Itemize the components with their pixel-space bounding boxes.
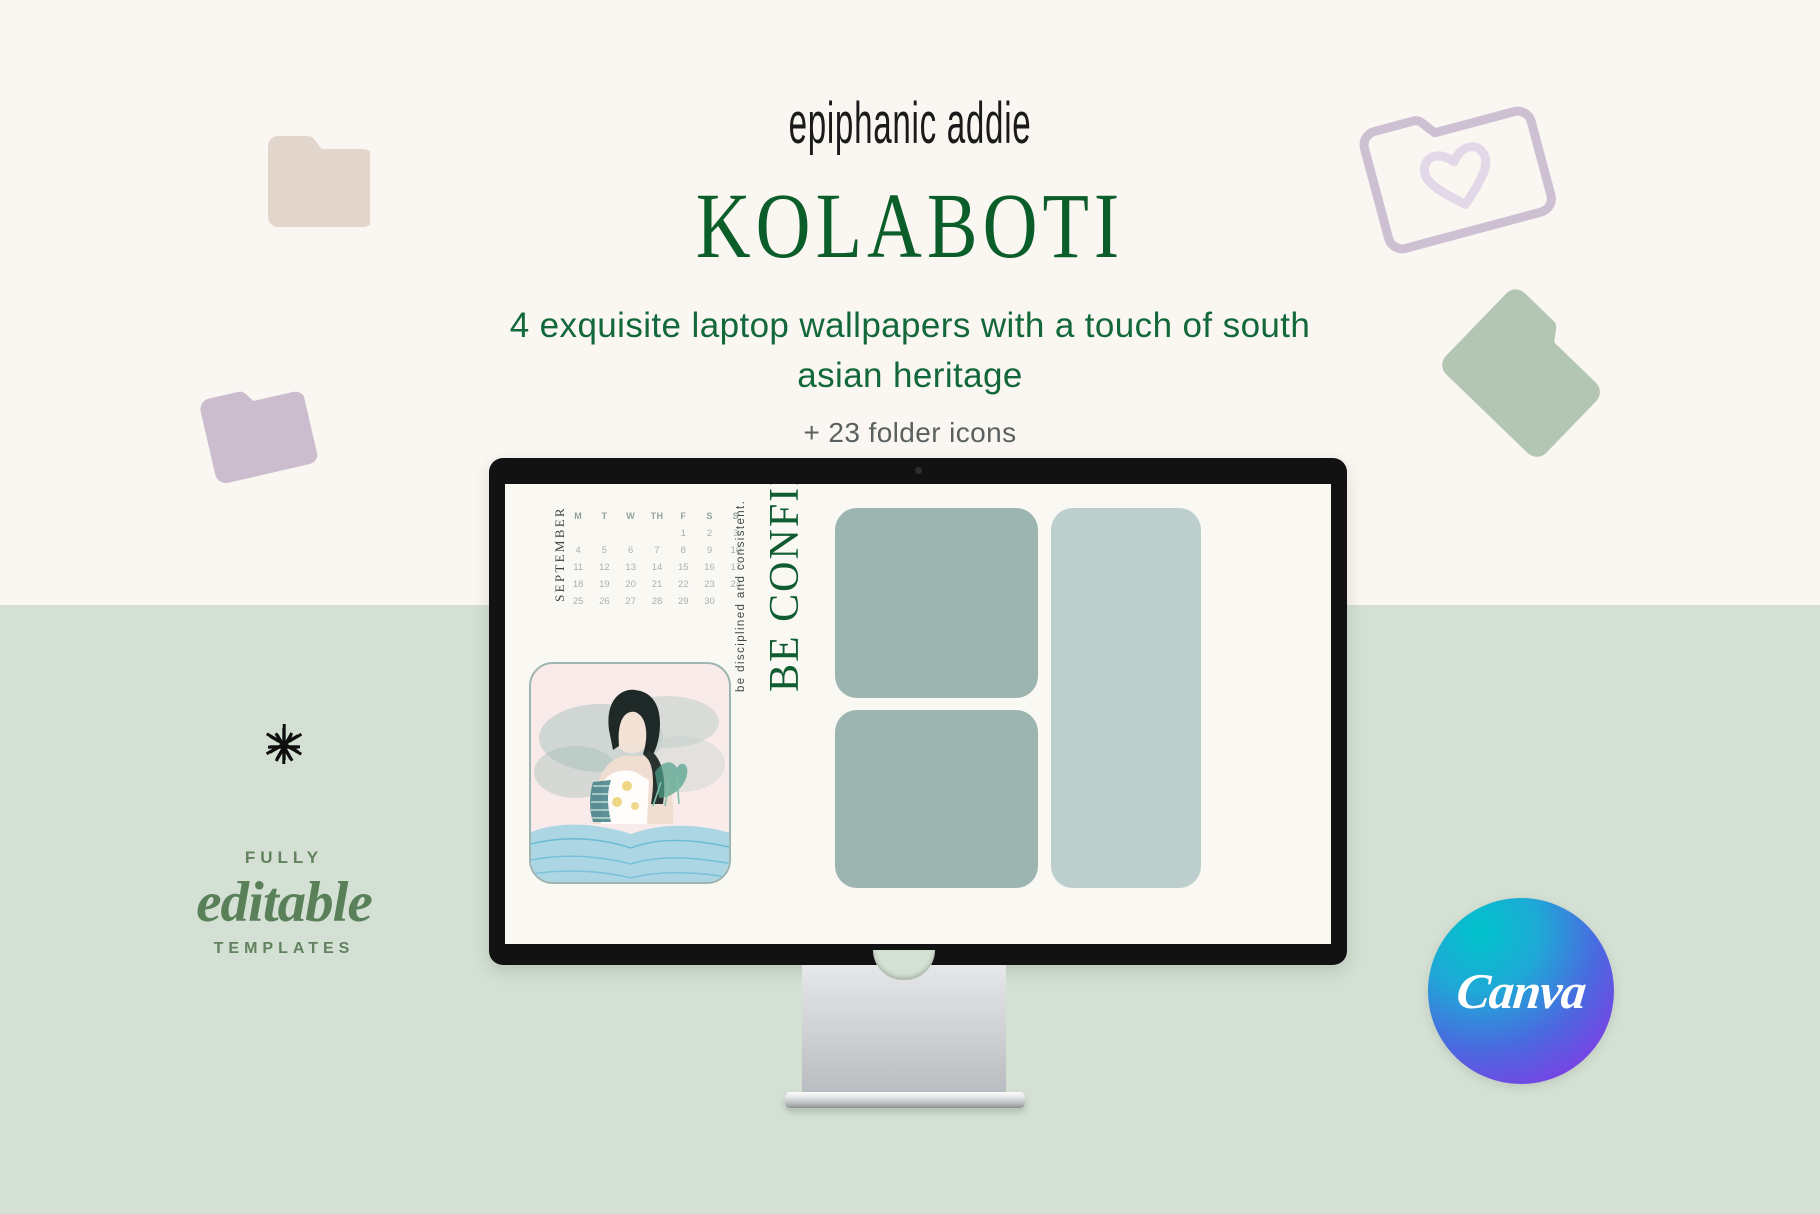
calendar-week-row: 45678910 (565, 542, 749, 559)
subtitle-line-2: asian heritage (0, 351, 1820, 401)
badge-line-editable: editable (128, 870, 440, 935)
canva-logo-text: Canva (1454, 962, 1588, 1020)
calendar-day-cell: 25 (565, 593, 591, 610)
calendar-day-cell: 13 (618, 559, 644, 576)
calendar-header-row: MTWTHFSS (565, 508, 749, 525)
calendar-day-cell (618, 525, 644, 542)
calendar-day-cell: 6 (618, 542, 644, 559)
calendar-day-cell: 2 (696, 525, 722, 542)
monitor-stand-neck (802, 965, 1006, 1093)
woman-in-saree-illustration (529, 662, 731, 884)
calendar-week-row: 252627282930 (565, 593, 749, 610)
calendar-day-cell: 19 (591, 576, 617, 593)
calendar-day-cell: 7 (644, 542, 670, 559)
calendar-day-cell: 4 (565, 542, 591, 559)
badge-line-fully: FULLY (128, 848, 440, 868)
calendar-day-cell: 12 (591, 559, 617, 576)
calendar-day-header: S (696, 508, 722, 525)
webcam-icon (915, 467, 922, 474)
monitor-screen: SEPTEMBER MTWTHFSS1234567891011121314151… (505, 484, 1331, 944)
fully-editable-badge: FULLY editable TEMPLATES (128, 718, 440, 1030)
canva-logo: Canva (1428, 898, 1614, 1084)
calendar-day-header: T (591, 508, 617, 525)
calendar-week-row: 18192021222324 (565, 576, 749, 593)
quote-subline: be disciplined and consistent. (735, 484, 747, 692)
stand-notch (873, 950, 935, 980)
quote-block: BE CONFIDENT be disciplined and consiste… (741, 512, 811, 912)
calendar-day-header: F (670, 508, 696, 525)
calendar-day-cell: 27 (618, 593, 644, 610)
calendar-day-cell: 22 (670, 576, 696, 593)
calendar-day-cell: 29 (670, 593, 696, 610)
calendar: SEPTEMBER MTWTHFSS1234567891011121314151… (529, 508, 749, 643)
block-sage-large (835, 508, 1038, 698)
folder-icon-count: + 23 folder icons (0, 417, 1820, 449)
calendar-day-cell: 8 (670, 542, 696, 559)
calendar-day-cell: 26 (591, 593, 617, 610)
calendar-day-header: M (565, 508, 591, 525)
wallpaper: SEPTEMBER MTWTHFSS1234567891011121314151… (505, 484, 1331, 944)
calendar-day-cell (565, 525, 591, 542)
subtitle-line-1: 4 exquisite laptop wallpapers with a tou… (0, 301, 1820, 351)
brand-name: epiphanic addie (255, 88, 1565, 157)
header-block: epiphanic addie KOLABOTI 4 exquisite lap… (0, 0, 1820, 449)
quote-headline: BE CONFIDENT (761, 484, 809, 692)
block-pale-tall (1051, 508, 1201, 888)
block-sage-small (835, 710, 1038, 888)
calendar-week-row: 123 (565, 525, 749, 542)
calendar-day-cell: 30 (696, 593, 722, 610)
calendar-grid: MTWTHFSS12345678910111213141516171819202… (565, 508, 749, 610)
calendar-day-cell: 23 (696, 576, 722, 593)
page-title: KOLABOTI (0, 174, 1820, 280)
calendar-day-cell: 28 (644, 593, 670, 610)
calendar-day-cell (644, 525, 670, 542)
monitor: SEPTEMBER MTWTHFSS1234567891011121314151… (489, 458, 1347, 965)
calendar-day-cell: 15 (670, 559, 696, 576)
monitor-stand-base (785, 1092, 1025, 1108)
calendar-day-cell: 9 (696, 542, 722, 559)
calendar-day-cell: 14 (644, 559, 670, 576)
poster-canvas: epiphanic addie KOLABOTI 4 exquisite lap… (0, 0, 1820, 1214)
calendar-day-cell: 20 (618, 576, 644, 593)
calendar-day-cell: 21 (644, 576, 670, 593)
subtitle: 4 exquisite laptop wallpapers with a tou… (0, 301, 1820, 401)
badge-line-templates: TEMPLATES (128, 940, 440, 958)
calendar-day-cell: 16 (696, 559, 722, 576)
calendar-week-row: 11121314151617 (565, 559, 749, 576)
calendar-day-cell: 1 (670, 525, 696, 542)
calendar-day-header: W (618, 508, 644, 525)
calendar-day-cell: 5 (591, 542, 617, 559)
calendar-day-cell: 11 (565, 559, 591, 576)
calendar-day-cell (591, 525, 617, 542)
calendar-day-header: TH (644, 508, 670, 525)
calendar-day-cell: 18 (565, 576, 591, 593)
